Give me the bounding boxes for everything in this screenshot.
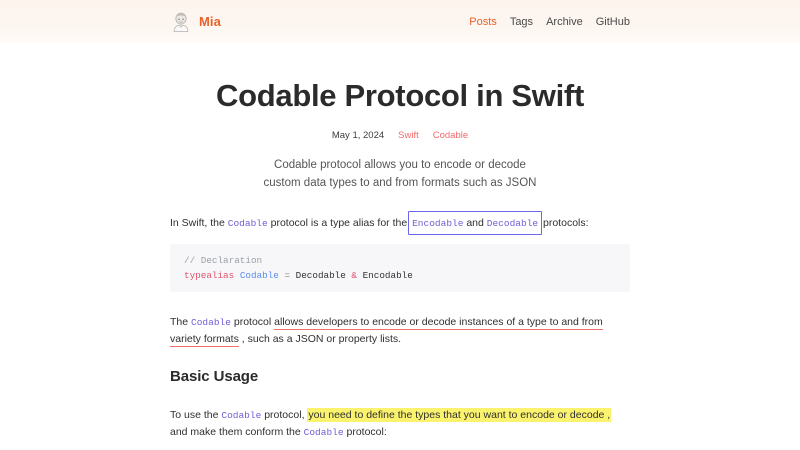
p3-text-1: To use the [170,409,221,421]
post-date: May 1, 2024 [332,130,384,141]
post-subtitle: Codable protocol allows you to encode or… [170,157,630,193]
code1-ampersand: & [346,270,363,281]
code1-decodable: Decodable [296,270,346,281]
page-title: Codable Protocol in Swift [170,77,630,114]
inline-code-codable: Codable [228,218,268,229]
article-page: Codable Protocol in Swift May 1, 2024 Sw… [0,77,800,450]
code1-type-codable: Codable [240,270,279,281]
nav-link-archive[interactable]: Archive [546,16,583,28]
annotation-underline-part2: variety formats [170,333,239,347]
section-heading-basic-usage: Basic Usage [170,368,630,385]
p3-text-4: protocol: [344,426,387,438]
p1-text-3: protocols: [540,217,588,229]
inline-code-encodable: Encodable [412,218,463,229]
inline-code-codable-4: Codable [304,427,344,438]
annotation-highlight-define-types: you need to define the types that you wa… [307,408,611,422]
p2-text-2: protocol [231,316,274,328]
paragraph-basic-usage: To use the Codable protocol, you need to… [170,407,630,441]
inline-code-codable-3: Codable [221,410,261,421]
inline-code-codable-2: Codable [191,317,231,328]
code1-operator: = [279,270,296,281]
site-header: Mia Posts Tags Archive GitHub [0,0,800,43]
annotation-box-encodable-decodable: Encodable and Decodable [410,215,540,232]
code1-encodable: Encodable [363,270,413,281]
p2-text-1: The [170,316,191,328]
post-tag-codable[interactable]: Codable [433,130,468,141]
p1-boxed-mid: and [463,217,486,229]
post-subtitle-line2: custom data types to and from formats su… [264,177,537,189]
paragraph-codable-description: The Codable protocol allows developers t… [170,314,630,348]
post-subtitle-line1: Codable protocol allows you to encode or… [274,159,526,171]
post-meta: May 1, 2024 Swift Codable [170,130,630,141]
inline-code-decodable: Decodable [487,218,538,229]
avatar-icon [170,11,192,33]
code-block-declaration: // Declaration typealias Codable = Decod… [170,244,630,292]
nav-link-posts[interactable]: Posts [469,16,497,28]
main-nav: Posts Tags Archive GitHub [469,16,630,28]
code1-keyword-typealias: typealias [184,270,234,281]
nav-link-github[interactable]: GitHub [596,16,630,28]
code1-comment: // Declaration [184,255,262,266]
p2-text-3: , such as a JSON or property lists. [239,333,401,345]
p3-text-2: protocol, [261,409,307,421]
nav-link-tags[interactable]: Tags [510,16,533,28]
header-inner: Mia Posts Tags Archive GitHub [0,11,800,33]
brand-link[interactable]: Mia [170,11,221,33]
p1-text-2: protocol is a type alias for the [268,217,410,229]
p1-text-1: In Swift, the [170,217,228,229]
annotation-underline-part1: allows developers to encode or decode in… [274,316,603,330]
paragraph-type-alias: In Swift, the Codable protocol is a type… [170,215,630,232]
post-tag-swift[interactable]: Swift [398,130,419,141]
brand-name: Mia [199,14,221,29]
p3-text-3: and make them conform the [170,426,304,438]
